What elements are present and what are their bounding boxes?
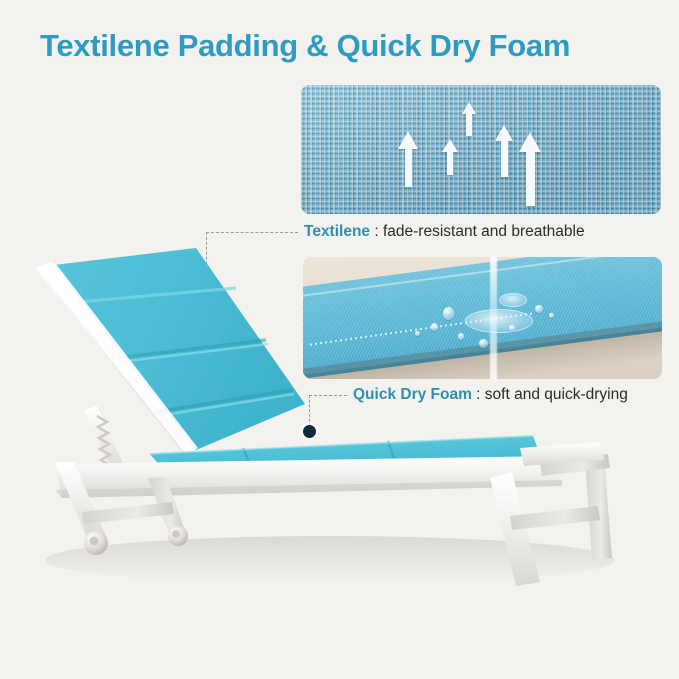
recline-ratchet-bracket — [84, 406, 125, 473]
textilene-mesh-swatch — [301, 85, 661, 214]
airflow-arrow-icon — [493, 123, 515, 179]
caption-label-textilene: Textilene — [304, 223, 370, 240]
airflow-arrow-icon — [396, 129, 420, 189]
woven-mesh-texture — [301, 85, 661, 214]
foot-leg-crossbar — [510, 506, 600, 530]
airflow-arrow-icon — [461, 101, 477, 137]
callout-leader-textilene-horizontal — [206, 232, 298, 233]
adjustable-chaise-lounge — [0, 240, 679, 600]
caster-wheel-hub — [172, 530, 180, 538]
head-leg-crossbar — [82, 502, 174, 524]
airflow-arrow-icon — [441, 137, 459, 177]
infographic-canvas: Textilene Padding & Quick Dry Foam Texti… — [0, 0, 679, 679]
caption-separator: : — [370, 223, 383, 240]
caption-description-textilene: fade-resistant and breathable — [383, 223, 585, 240]
airflow-arrow-icon — [517, 130, 543, 208]
caption-textilene: Textilene : fade-resistant and breathabl… — [304, 223, 585, 241]
page-title: Textilene Padding & Quick Dry Foam — [40, 24, 660, 68]
caster-wheel-hub — [90, 537, 99, 546]
